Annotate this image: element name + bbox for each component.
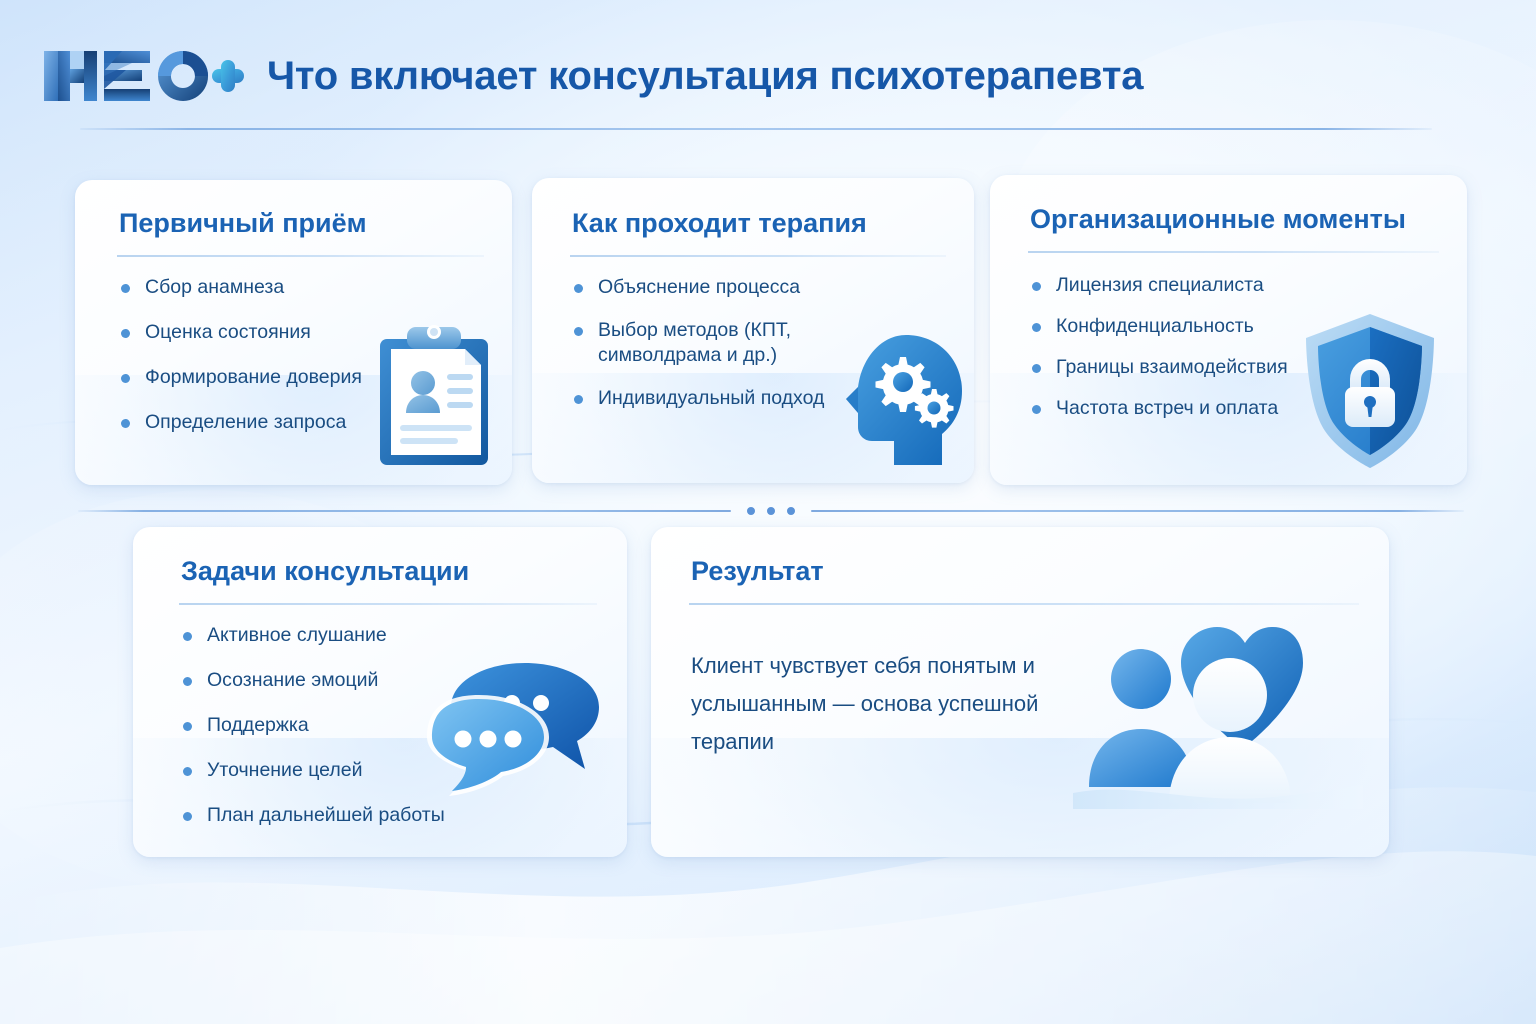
card-primary: Первичный приём Сбор анамнеза Оценка сос… [75, 180, 512, 485]
list-item: Объяснение процесса [572, 275, 852, 300]
list-item: Лицензия специалиста [1030, 273, 1337, 298]
card-title-org: Организационные моменты [1030, 205, 1406, 235]
card-title-primary: Первичный приём [119, 209, 367, 239]
divider-line-right [811, 510, 1464, 512]
section-divider [78, 506, 1464, 516]
card-therapy: Как проходит терапия Объяснение процесса… [532, 178, 974, 483]
card-rule [117, 255, 484, 257]
list-item: Формирование доверия [119, 365, 402, 390]
list-item: Конфиденциальность [1030, 314, 1337, 339]
card-tasks: Задачи консультации Активное слушание Ос… [133, 527, 627, 857]
card-rule [1028, 251, 1439, 253]
header-divider [80, 128, 1432, 130]
card-title-result: Результат [691, 557, 824, 587]
neo-plus-logo-icon [40, 45, 245, 107]
bullet-list-therapy: Объяснение процесса Выбор методов (КПТ, … [572, 275, 852, 429]
card-rule [179, 603, 597, 605]
card-rule [570, 255, 946, 257]
infographic-canvas: Что включает консультация психотерапевта… [0, 0, 1536, 1024]
list-item: Индивидуальный подход [572, 386, 852, 411]
page-header: Что включает консультация психотерапевта [40, 40, 1464, 138]
list-item: Осознание эмоций [181, 668, 487, 693]
head-gears-icon [838, 329, 966, 469]
list-item: Определение запроса [119, 410, 402, 435]
bullet-list-primary: Сбор анамнеза Оценка состояния Формирова… [119, 275, 402, 455]
list-item: Оценка состояния [119, 320, 402, 345]
people-heart-icon [1073, 617, 1363, 809]
divider-dot [787, 507, 795, 515]
list-item: Выбор методов (КПТ, символдрама и др.) [572, 318, 852, 368]
divider-dot [767, 507, 775, 515]
list-item: Сбор анамнеза [119, 275, 402, 300]
list-item: Границы взаимодействия [1030, 355, 1337, 380]
divider-dot [747, 507, 755, 515]
card-org: Организационные моменты Лицензия специал… [990, 175, 1467, 485]
card-rule [689, 603, 1359, 605]
page-title: Что включает консультация психотерапевта [267, 56, 1143, 96]
list-item: Частота встреч и оплата [1030, 396, 1337, 421]
list-item: Активное слушание [181, 623, 487, 648]
card-title-therapy: Как проходит терапия [572, 209, 867, 239]
bullet-list-tasks: Активное слушание Осознание эмоций Подде… [181, 623, 487, 848]
result-body-text: Клиент чувствует себя понятым и услышанн… [691, 647, 1111, 760]
three-dots-divider-icon [731, 507, 811, 515]
list-item: Уточнение целей [181, 758, 487, 783]
card-result: Результат Клиент чувствует себя понятым … [651, 527, 1389, 857]
card-title-tasks: Задачи консультации [181, 557, 469, 587]
list-item: План дальнейшей работы [181, 803, 487, 828]
bullet-list-org: Лицензия специалиста Конфиденциальность … [1030, 273, 1337, 437]
divider-line-left [78, 510, 731, 512]
list-item: Поддержка [181, 713, 487, 738]
